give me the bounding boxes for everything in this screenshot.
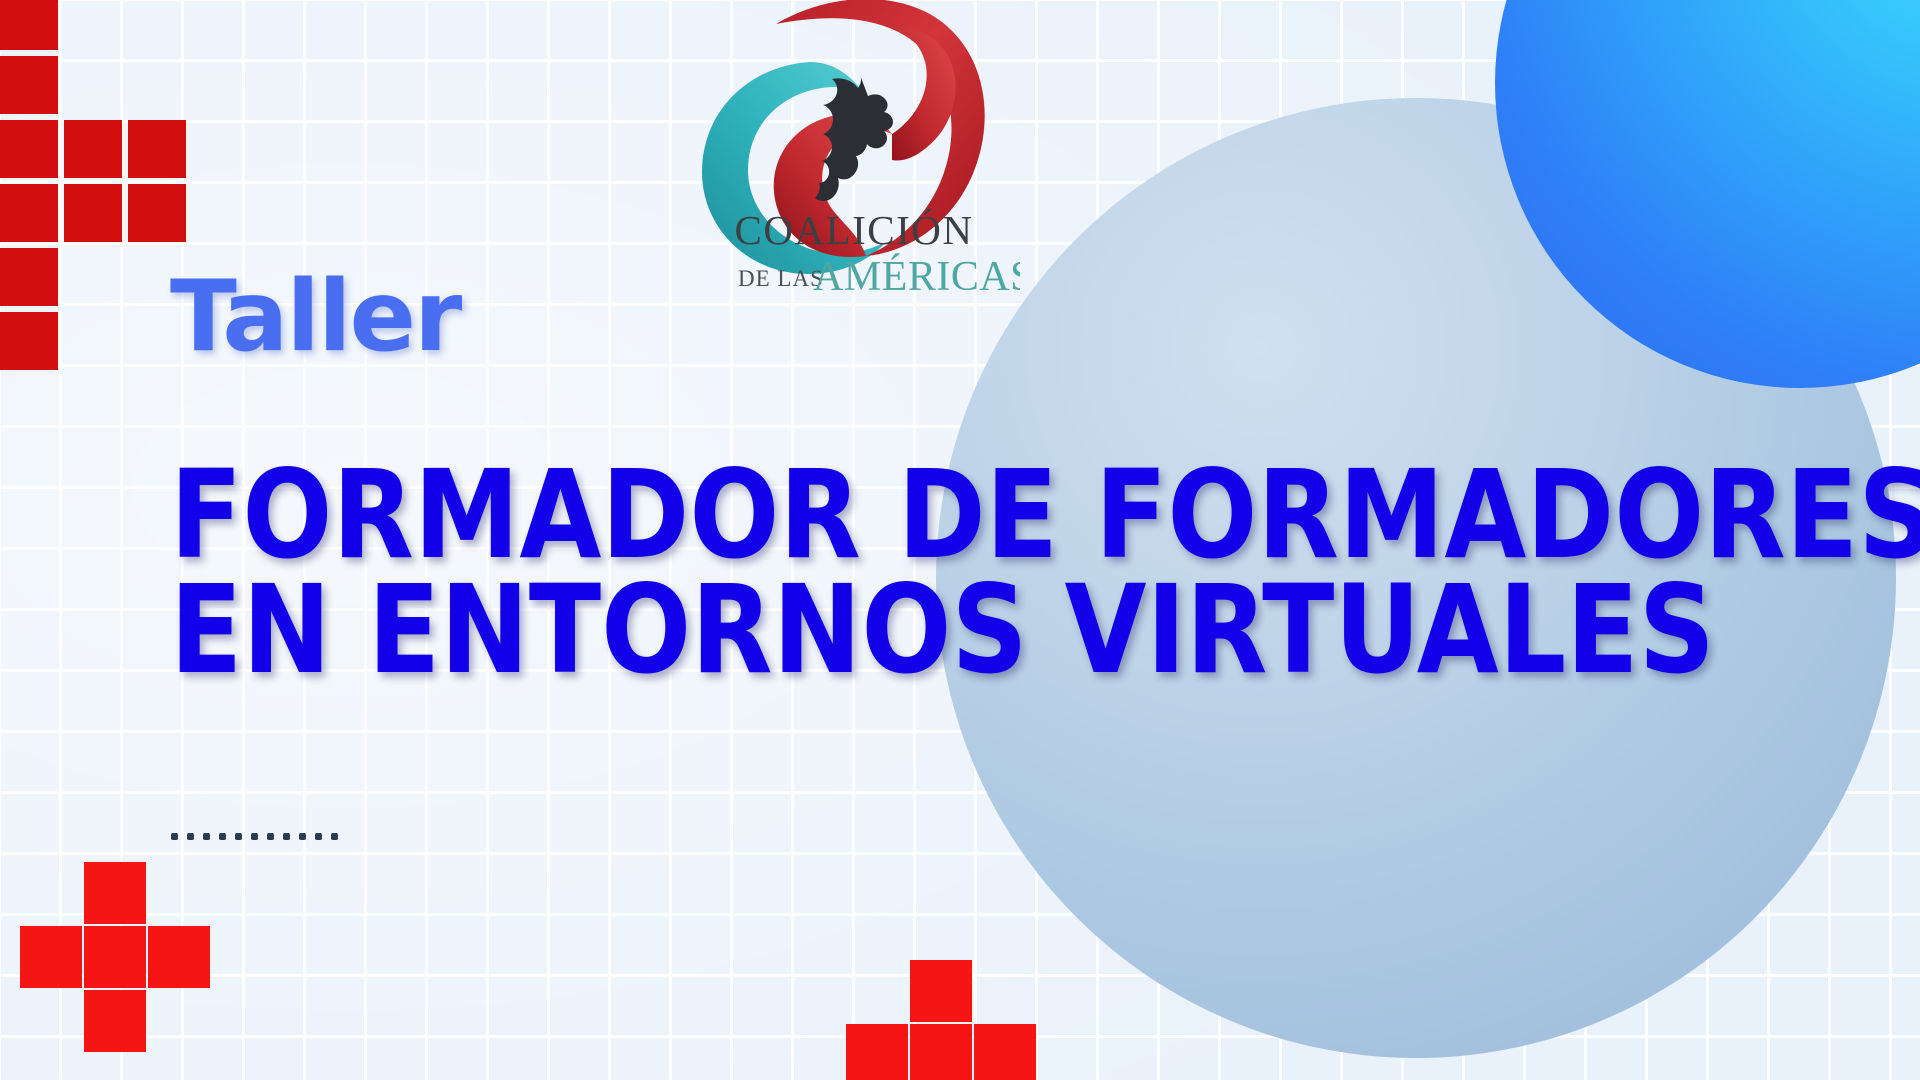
plus-bl-bottom bbox=[84, 990, 146, 1052]
plus-bc-center bbox=[910, 1024, 972, 1080]
square-tl-9 bbox=[0, 248, 58, 306]
plus-bl-center bbox=[84, 926, 146, 988]
square-tl-10 bbox=[0, 312, 58, 370]
square-tl-1 bbox=[0, 0, 58, 50]
placeholder-dot bbox=[315, 833, 322, 840]
placeholder-dot bbox=[203, 833, 210, 840]
plus-bc-top bbox=[910, 960, 972, 1022]
page-title-line-1: FORMADOR DE FORMADORES bbox=[170, 458, 1920, 573]
placeholder-dot bbox=[235, 833, 242, 840]
square-tl-4 bbox=[64, 120, 122, 178]
square-tl-7 bbox=[64, 184, 122, 242]
kicker-text: Taller bbox=[170, 268, 460, 366]
plus-bl-right bbox=[148, 926, 210, 988]
placeholder-dot bbox=[187, 833, 194, 840]
plus-bl-left bbox=[20, 926, 82, 988]
square-tl-8 bbox=[128, 184, 186, 242]
placeholder-dot bbox=[251, 833, 258, 840]
placeholder-dot bbox=[171, 833, 178, 840]
logo-wordmark-line1: COALICIÓN bbox=[735, 207, 974, 253]
subtitle-placeholder-dots bbox=[171, 833, 338, 840]
placeholder-dot bbox=[331, 833, 338, 840]
coalicion-logo: COALICIÓN DE LAS AMÉRICAS bbox=[690, 0, 1020, 314]
page-title-line-2: EN ENTORNOS VIRTUALES bbox=[170, 573, 1920, 688]
page-title: FORMADOR DE FORMADORES EN ENTORNOS VIRTU… bbox=[170, 458, 1920, 687]
square-tl-3 bbox=[0, 120, 58, 178]
placeholder-dot bbox=[219, 833, 226, 840]
square-tl-2 bbox=[0, 56, 58, 114]
plus-bl-top bbox=[84, 862, 146, 924]
logo-wordmark-line2-small: DE LAS bbox=[738, 266, 824, 291]
placeholder-dot bbox=[283, 833, 290, 840]
placeholder-dot bbox=[299, 833, 306, 840]
square-tl-6 bbox=[0, 184, 58, 242]
plus-bc-right bbox=[974, 1024, 1036, 1080]
square-tl-5 bbox=[128, 120, 186, 178]
logo-wordmark-line2-large: AMÉRICAS bbox=[813, 253, 1020, 300]
slide-canvas: COALICIÓN DE LAS AMÉRICAS Taller FORMADO… bbox=[0, 0, 1920, 1080]
placeholder-dot bbox=[267, 833, 274, 840]
plus-bc-left bbox=[846, 1024, 908, 1080]
